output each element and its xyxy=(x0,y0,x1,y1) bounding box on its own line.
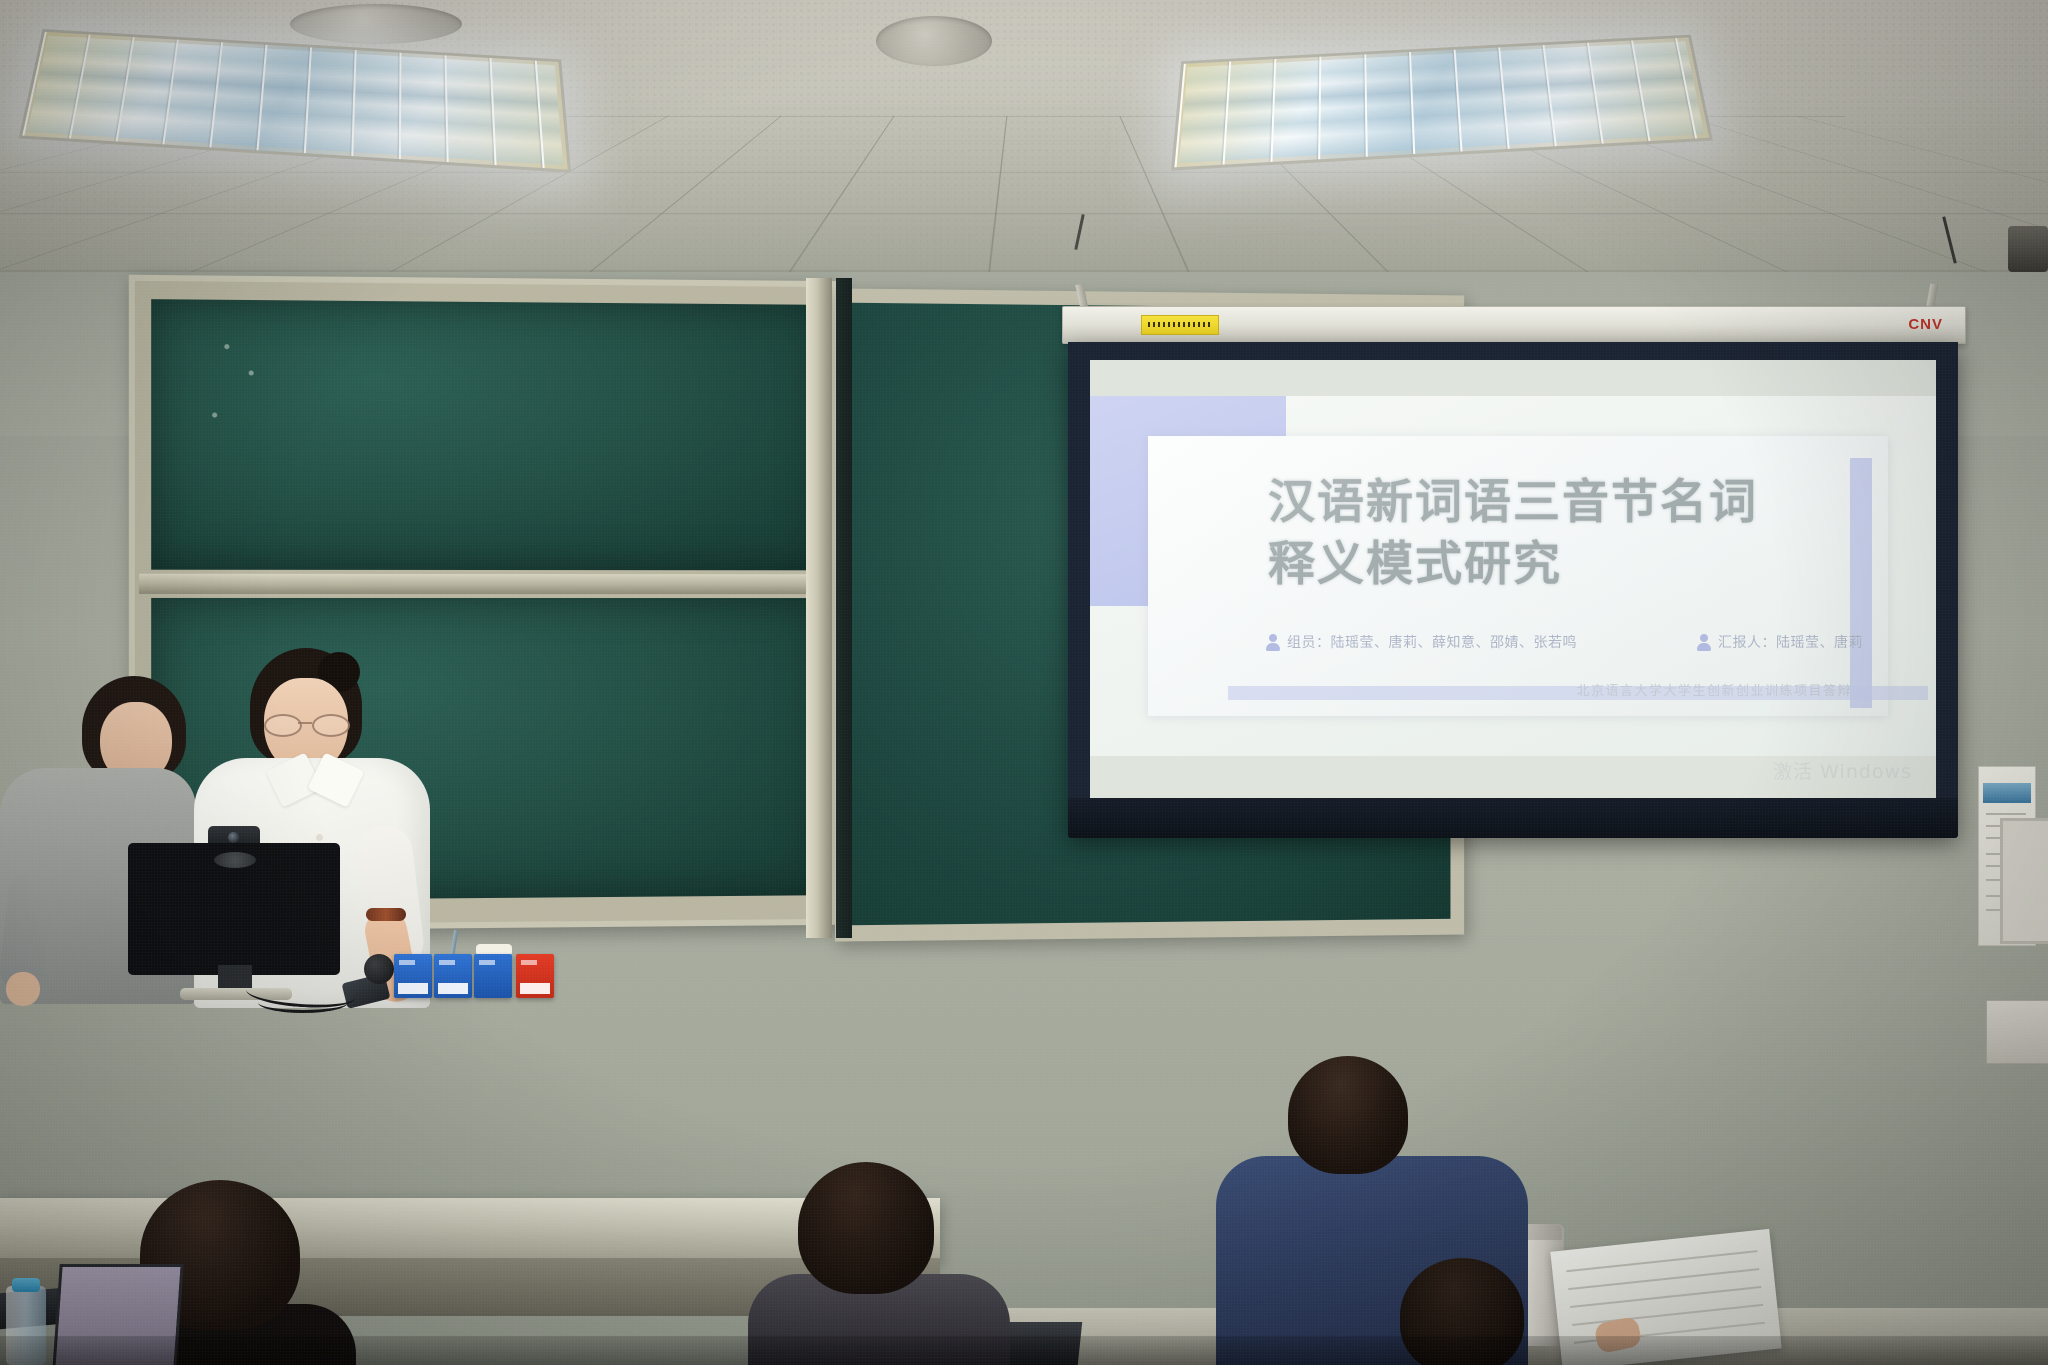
dell-logo-icon xyxy=(214,852,256,868)
wall-speaker-icon xyxy=(2008,226,2048,272)
audience-center xyxy=(756,1162,1006,1365)
slide-title-card: 汉语新词语三音节名词 释义模式研究 组员：陆瑶莹、唐莉、薛知意、邵婧、张若鸣 汇… xyxy=(1148,436,1888,716)
ceiling-speaker-icon xyxy=(290,4,462,44)
desk-cable xyxy=(258,992,348,1013)
bottle-cap xyxy=(12,1278,40,1292)
chalk-box-blue[interactable] xyxy=(394,954,432,998)
blackboard-slider-track[interactable] xyxy=(806,278,832,938)
slide-presenter: 汇报人：陆瑶莹、唐莉 xyxy=(1697,632,1863,652)
slide-presenter-label: 汇报人：陆瑶莹、唐莉 xyxy=(1718,632,1863,652)
screen-bottom-bar xyxy=(1068,798,1958,838)
bracelet xyxy=(366,908,406,921)
wall-box xyxy=(1986,1000,2048,1064)
framed-notice xyxy=(2000,818,2048,944)
person-icon xyxy=(1697,634,1711,650)
slide-title: 汉语新词语三音节名词 释义模式研究 xyxy=(1268,472,1868,596)
classroom-photo-scene: CNV 汉语新词语三音节名词 释义模式研究 xyxy=(0,0,2048,1365)
screen-surface: 汉语新词语三音节名词 释义模式研究 组员：陆瑶莹、唐莉、薛知意、邵婧、张若鸣 汇… xyxy=(1090,360,1936,810)
projected-slide: 汉语新词语三音节名词 释义模式研究 组员：陆瑶莹、唐莉、薛知意、邵婧、张若鸣 汇… xyxy=(1090,396,1936,756)
hand xyxy=(6,972,40,1006)
slide-title-line-2: 释义模式研究 xyxy=(1268,534,1868,596)
microphone[interactable] xyxy=(364,954,394,984)
slide-title-line-1: 汉语新词语三音节名词 xyxy=(1268,472,1868,534)
chalk-rail xyxy=(139,574,830,594)
slide-members-label: 组员：陆瑶莹、唐莉、薛知意、邵婧、张若鸣 xyxy=(1287,632,1577,652)
projection-screen-assembly: CNV 汉语新词语三音节名词 释义模式研究 xyxy=(1062,306,1972,856)
slide-credits-row: 组员：陆瑶莹、唐莉、薛知意、邵婧、张若鸣 汇报人：陆瑶莹、唐莉 xyxy=(1266,632,1906,652)
chalk-box-red[interactable] xyxy=(516,954,554,998)
screen-roller-housing[interactable]: CNV xyxy=(1062,306,1966,344)
screen-brand-label: CNV xyxy=(1908,316,1943,333)
person-icon xyxy=(1266,634,1280,650)
dell-monitor[interactable] xyxy=(128,843,340,975)
webcam-lens-icon xyxy=(228,832,239,843)
ceiling-speaker-icon xyxy=(876,16,992,66)
foreground-shadow xyxy=(0,1336,2048,1365)
windows-activation-watermark: 激活 Windows xyxy=(1773,757,1912,784)
blackboard-panel-upper xyxy=(151,299,818,570)
slide-members: 组员：陆瑶莹、唐莉、薛知意、邵婧、张若鸣 xyxy=(1266,632,1577,652)
blackboard-slider-rail[interactable] xyxy=(836,278,852,938)
chalk-box-blue[interactable] xyxy=(434,954,472,998)
slide-organization-label: 北京语言大学大学生创新创业训练项目答辩 xyxy=(1148,680,1852,699)
glasses-icon xyxy=(262,714,350,734)
screen-border: 汉语新词语三音节名词 释义模式研究 组员：陆瑶莹、唐莉、薛知意、邵婧、张若鸣 汇… xyxy=(1068,342,1958,836)
chalk-box-blue[interactable] xyxy=(474,954,512,998)
warning-sticker-icon xyxy=(1141,315,1219,335)
